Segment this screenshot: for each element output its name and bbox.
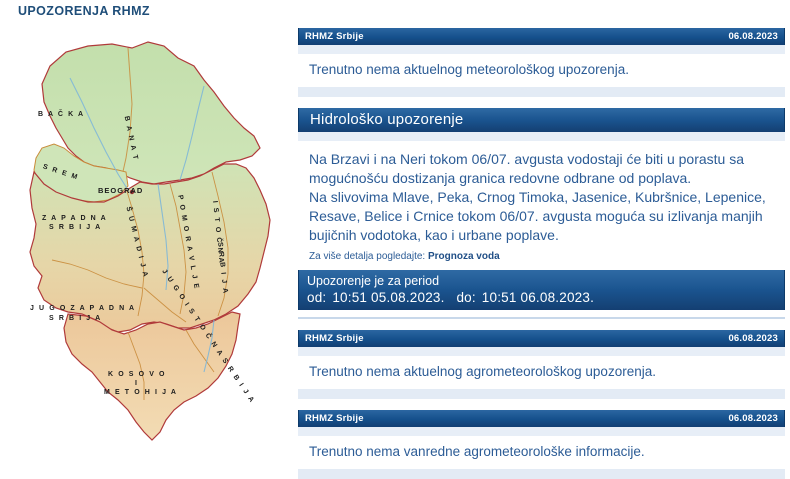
map-panel: B A Č K A B A N A T S R E M BEOGRAD Z A … <box>0 26 292 472</box>
block-gap-1 <box>298 97 785 108</box>
pale-strip-agro <box>298 347 785 356</box>
agro-message: Trenutno nema aktuelnog agrometeorološko… <box>298 356 785 389</box>
source-name: RHMZ Srbije <box>305 31 364 42</box>
serbia-regions-map <box>8 32 288 460</box>
source-name: RHMZ Srbije <box>305 333 364 344</box>
period-to-value: 10:51 06.08.2023. <box>482 290 594 305</box>
source-date: 06.08.2023 <box>728 333 778 344</box>
hydro-detail-line: Za više detalja pogledajte: Prognoza vod… <box>298 247 785 270</box>
page-title: UPOZORENJA RHMZ <box>18 4 150 18</box>
meteo-message: Trenutno nema aktuelnog meteorološkog up… <box>298 54 785 87</box>
warning-block-agro: RHMZ Srbije 06.08.2023 Trenutno nema akt… <box>298 330 785 399</box>
hydro-paragraph-2: Na slivovima Mlave, Peka, Crnog Timoka, … <box>309 188 785 245</box>
period-from-value: 10:51 05.08.2023. <box>332 290 444 305</box>
detail-prefix: Za više detalja pogledajte: <box>309 251 425 262</box>
source-bar-meteo: RHMZ Srbije 06.08.2023 <box>298 28 785 45</box>
pale-strip-bottom-agro-extra <box>298 469 785 479</box>
warning-block-hydro: Hidrološko upozorenje Na Brzavi i na Ner… <box>298 108 785 319</box>
prognoza-voda-link[interactable]: Prognoza voda <box>428 251 500 262</box>
pale-strip-bottom-agro <box>298 389 785 399</box>
pale-strip-hydro <box>298 132 785 141</box>
hydro-paragraph-1: Na Brzavi i na Neri tokom 06/07. avgusta… <box>309 150 785 188</box>
warnings-column: RHMZ Srbije 06.08.2023 Trenutno nema akt… <box>298 28 785 479</box>
source-bar-agro: RHMZ Srbije 06.08.2023 <box>298 330 785 347</box>
warning-block-agro-extra: RHMZ Srbije 06.08.2023 Trenutno nema van… <box>298 410 785 479</box>
block-gap-3 <box>298 399 785 410</box>
agro-extra-message: Trenutno nema vanredne agrometeorološke … <box>298 436 785 469</box>
pale-strip-meteo <box>298 45 785 54</box>
source-date: 06.08.2023 <box>728 413 778 424</box>
block-gap-2 <box>298 319 785 330</box>
after-period-strip <box>298 310 785 317</box>
hydro-period-bar: Upozorenje je za period od: 10:51 05.08.… <box>298 270 785 310</box>
period-title: Upozorenje je za period <box>307 273 784 289</box>
hydro-body: Na Brzavi i na Neri tokom 06/07. avgusta… <box>298 141 785 247</box>
source-name: RHMZ Srbije <box>305 413 364 424</box>
period-range: od: 10:51 05.08.2023. do: 10:51 06.08.20… <box>307 289 784 306</box>
source-date: 06.08.2023 <box>728 31 778 42</box>
period-to-label: do: <box>456 290 475 305</box>
region-shape-south <box>64 312 240 440</box>
pale-strip-bottom-meteo <box>298 87 785 97</box>
hydro-heading: Hidrološko upozorenje <box>298 108 785 132</box>
source-bar-agro-extra: RHMZ Srbije 06.08.2023 <box>298 410 785 427</box>
warning-block-meteo: RHMZ Srbije 06.08.2023 Trenutno nema akt… <box>298 28 785 97</box>
pale-strip-agro-extra <box>298 427 785 436</box>
beograd-marker <box>130 190 134 194</box>
period-from-label: od: <box>307 290 326 305</box>
